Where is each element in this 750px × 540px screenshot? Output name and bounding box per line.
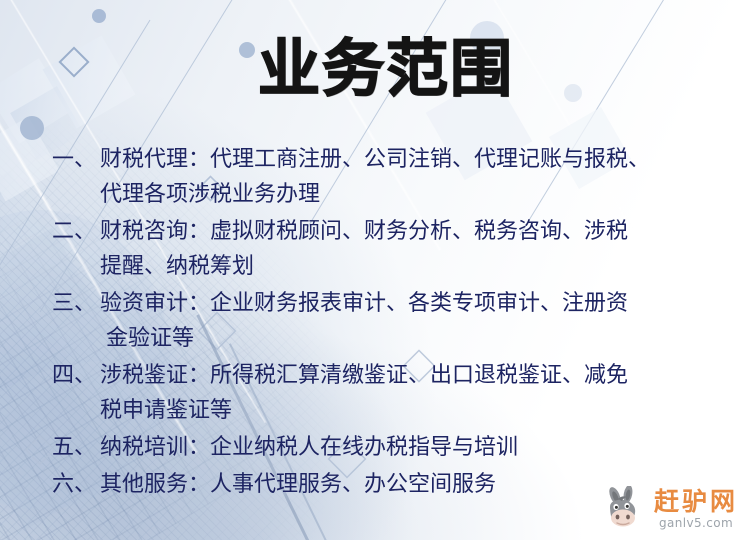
list-item-number: 四、	[52, 358, 96, 393]
list-item-body: 验资审计：企业财务报表审计、各类专项审计、注册资 金验证等	[96, 286, 712, 356]
list-item-line: 财税代理：代理工商注册、公司注销、代理记账与报税、	[96, 142, 712, 177]
list-item-line: 金验证等	[96, 321, 712, 356]
list-item-line: 财税咨询：虚拟财税顾问、财务分析、税务咨询、涉税	[96, 214, 712, 249]
list-item-body: 涉税鉴证：所得税汇算清缴鉴证、出口退税鉴证、减免 税申请鉴证等	[96, 358, 712, 428]
list-item-body: 财税代理：代理工商注册、公司注销、代理记账与报税、 代理各项涉税业务办理	[96, 142, 712, 212]
list-item-number: 三、	[52, 286, 96, 321]
list-item: 四、 涉税鉴证：所得税汇算清缴鉴证、出口退税鉴证、减免 税申请鉴证等	[52, 358, 712, 428]
list-item: 一、 财税代理：代理工商注册、公司注销、代理记账与报税、 代理各项涉税业务办理	[52, 142, 712, 212]
list-item-number: 一、	[52, 142, 96, 177]
watermark-brand-name: 赶驴网	[654, 488, 738, 515]
list-item: 五、 纳税培训：企业纳税人在线办税指导与培训	[52, 430, 712, 465]
list-item: 三、 验资审计：企业财务报表审计、各类专项审计、注册资 金验证等	[52, 286, 712, 356]
list-item-line: 涉税鉴证：所得税汇算清缴鉴证、出口退税鉴证、减免	[96, 358, 712, 393]
watermark: 赶驴网 ganlv5.com	[604, 486, 738, 532]
list-item-body: 纳税培训：企业纳税人在线办税指导与培训	[96, 430, 712, 465]
list-item-line: 纳税培训：企业纳税人在线办税指导与培训	[96, 430, 712, 465]
list-item-number: 二、	[52, 214, 96, 249]
donkey-head-icon	[604, 486, 648, 532]
watermark-text: 赶驴网 ganlv5.com	[654, 488, 738, 530]
list-item-number: 五、	[52, 430, 96, 465]
list-item-line: 代理各项涉税业务办理	[96, 177, 712, 212]
list-item-line: 验资审计：企业财务报表审计、各类专项审计、注册资	[96, 286, 712, 321]
list-item-line: 税申请鉴证等	[96, 393, 712, 428]
service-scope-list: 一、 财税代理：代理工商注册、公司注销、代理记账与报税、 代理各项涉税业务办理 …	[52, 142, 712, 504]
list-item: 二、 财税咨询：虚拟财税顾问、财务分析、税务咨询、涉税 提醒、纳税筹划	[52, 214, 712, 284]
list-item-line: 提醒、纳税筹划	[96, 249, 712, 284]
slide-canvas: 业务范围 一、 财税代理：代理工商注册、公司注销、代理记账与报税、 代理各项涉税…	[0, 0, 750, 540]
watermark-url: ganlv5.com	[659, 516, 733, 530]
slide-title: 业务范围	[258, 30, 678, 108]
list-item-body: 财税咨询：虚拟财税顾问、财务分析、税务咨询、涉税 提醒、纳税筹划	[96, 214, 712, 284]
list-item-number: 六、	[52, 467, 96, 502]
